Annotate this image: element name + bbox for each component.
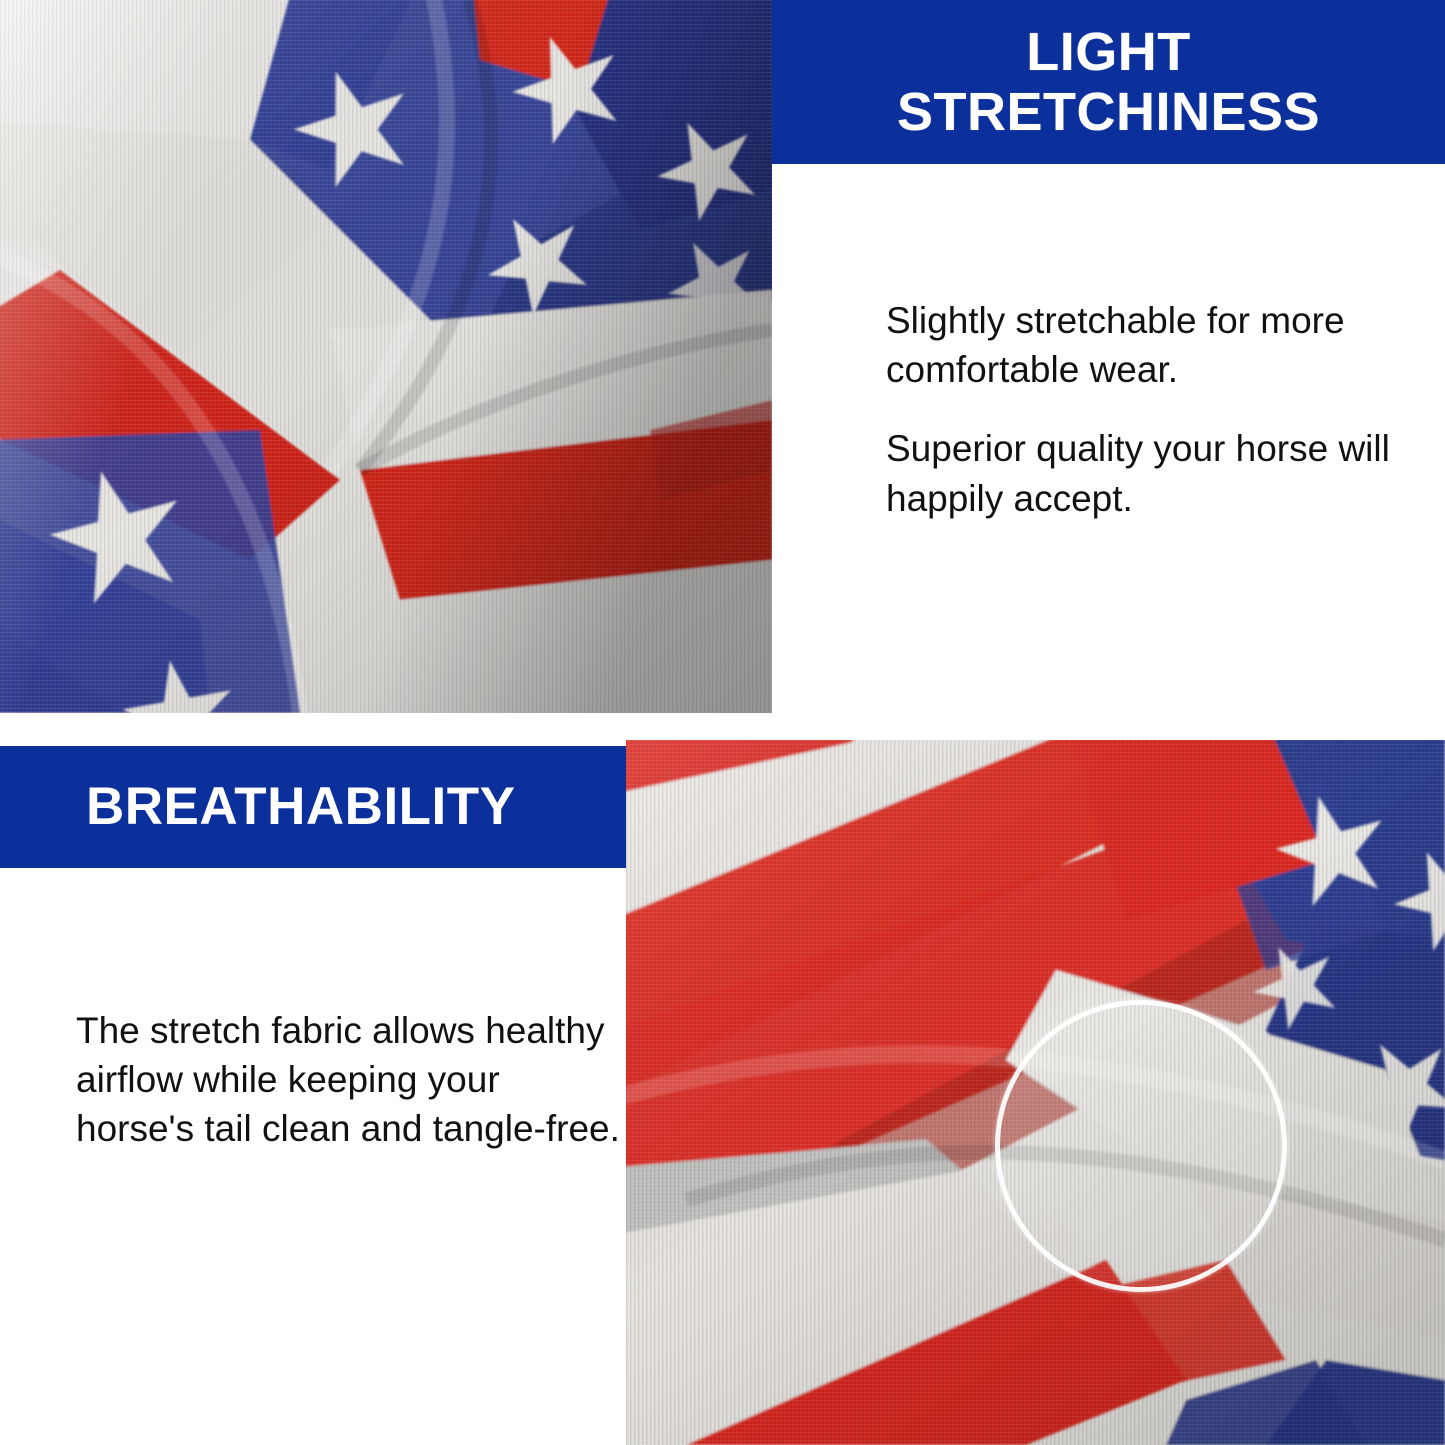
- infographic-root: LIGHT STRETCHINESS Slightly stretchable …: [0, 0, 1445, 1445]
- panel-heading-light-stretchiness: LIGHT STRETCHINESS: [897, 22, 1320, 143]
- fabric-photo-top-left: [0, 0, 772, 713]
- heading-band-breathability: BREATHABILITY: [0, 746, 626, 868]
- fabric-photo-bottom-right: [626, 740, 1445, 1445]
- heading-line-2: STRETCHINESS: [897, 82, 1320, 142]
- body-paragraph-2: Superior quality your horse will happily…: [886, 424, 1406, 522]
- copy-block-light-stretchiness: Slightly stretchable for more comfortabl…: [886, 296, 1406, 523]
- heading-line-1: LIGHT: [1026, 22, 1190, 82]
- panel-heading-breathability: BREATHABILITY: [86, 777, 516, 836]
- copy-block-breathability: The stretch fabric allows healthy airflo…: [76, 1006, 621, 1154]
- heading-band-light-stretchiness: LIGHT STRETCHINESS: [772, 0, 1445, 164]
- body-paragraph-3: The stretch fabric allows healthy airflo…: [76, 1006, 621, 1154]
- body-paragraph-1: Slightly stretchable for more comfortabl…: [886, 296, 1406, 394]
